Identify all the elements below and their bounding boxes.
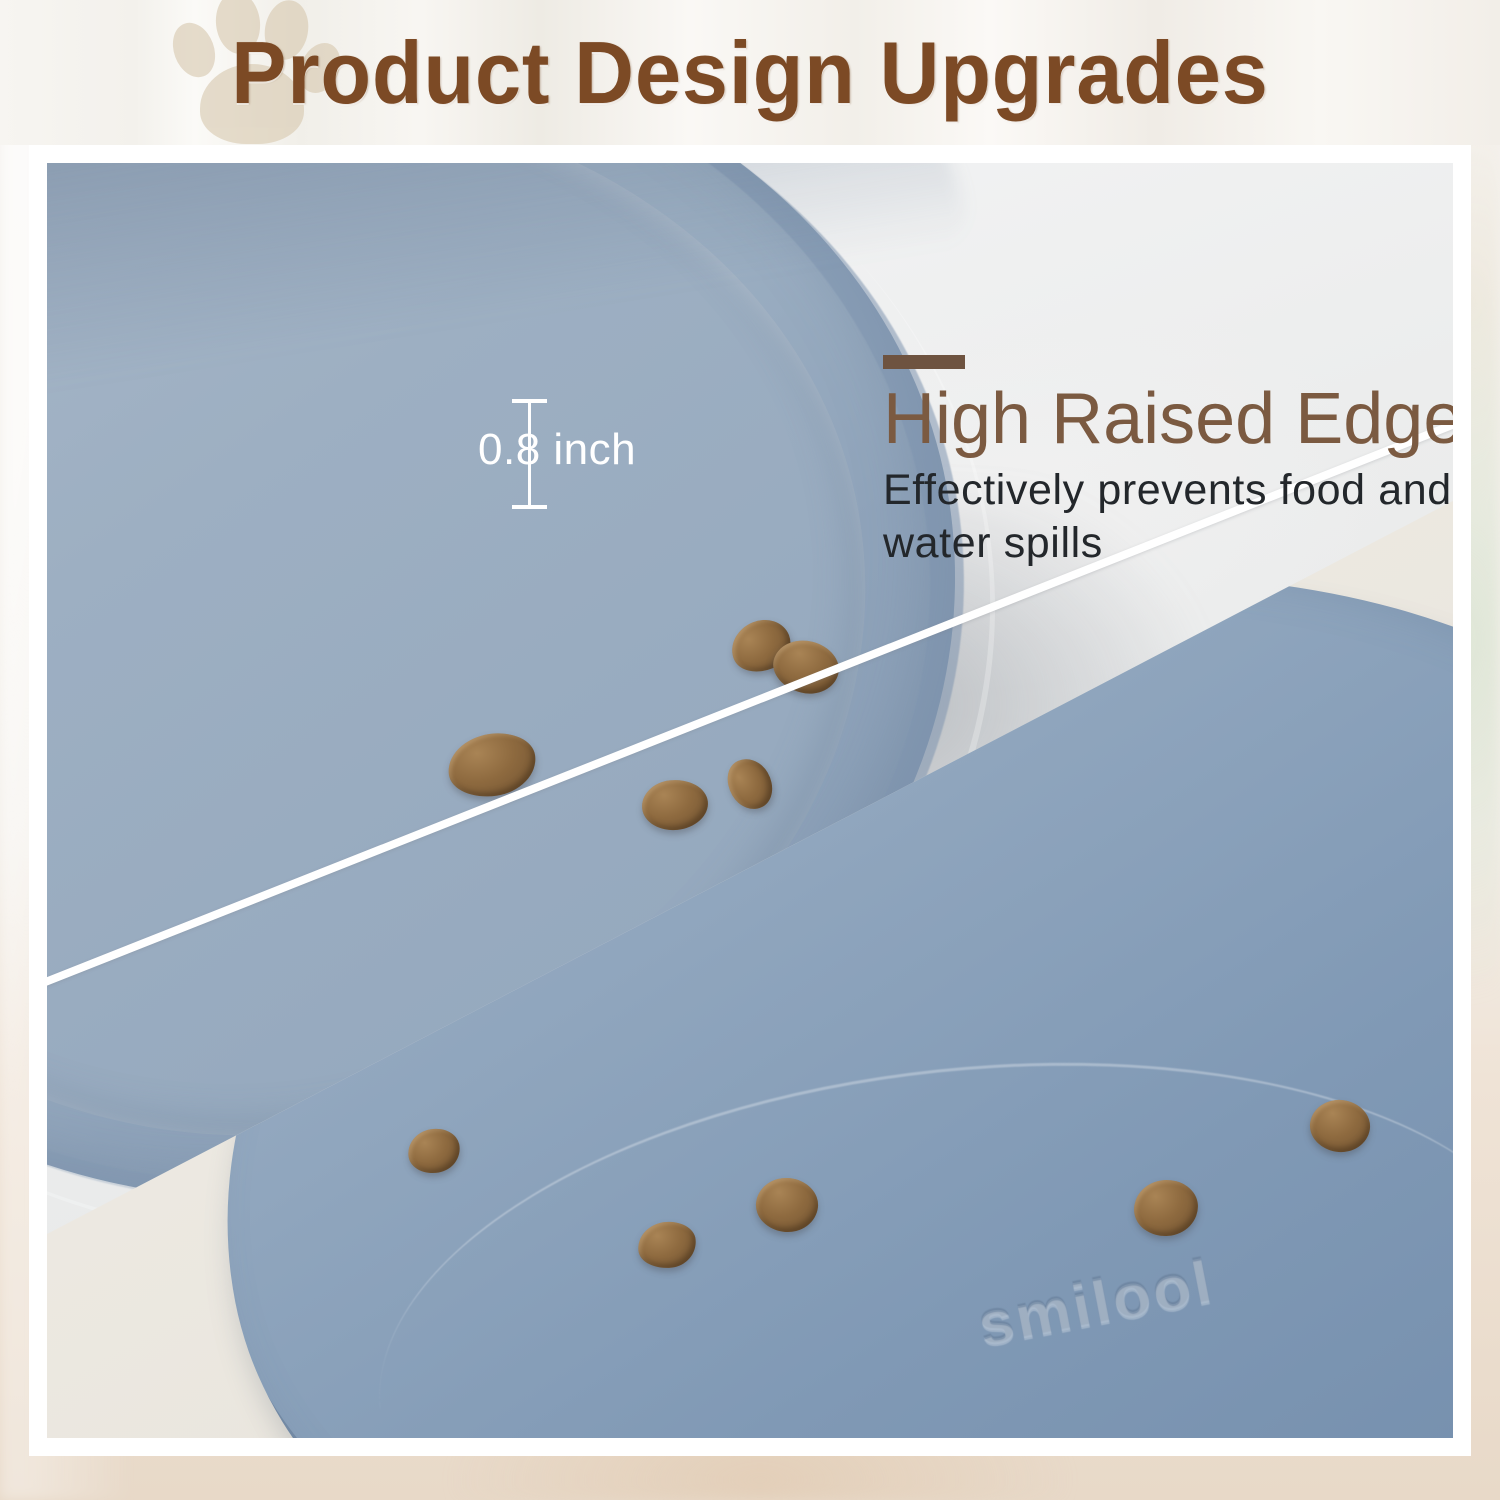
feature-heading: High Raised Edges bbox=[883, 383, 1453, 456]
dimension-callout: 0.8 inch bbox=[502, 395, 742, 513]
header-band: Product Design Upgrades bbox=[0, 0, 1500, 145]
dimension-label: 0.8 inch bbox=[478, 425, 636, 475]
product-feature-graphic: Product Design Upgrades smilool bbox=[0, 0, 1500, 1500]
feature-body: Effectively prevents food and water spil… bbox=[883, 464, 1453, 569]
photo-frame: smilool 0.8 inch High Raised Edges Effec… bbox=[29, 145, 1471, 1456]
product-photo: smilool 0.8 inch High Raised Edges Effec… bbox=[47, 163, 1453, 1438]
dimension-cap-bottom bbox=[512, 505, 547, 509]
accent-dash-icon bbox=[883, 355, 965, 369]
page-title: Product Design Upgrades bbox=[45, 0, 1455, 145]
feature-block-high-raised-edges: High Raised Edges Effectively prevents f… bbox=[883, 355, 1453, 569]
